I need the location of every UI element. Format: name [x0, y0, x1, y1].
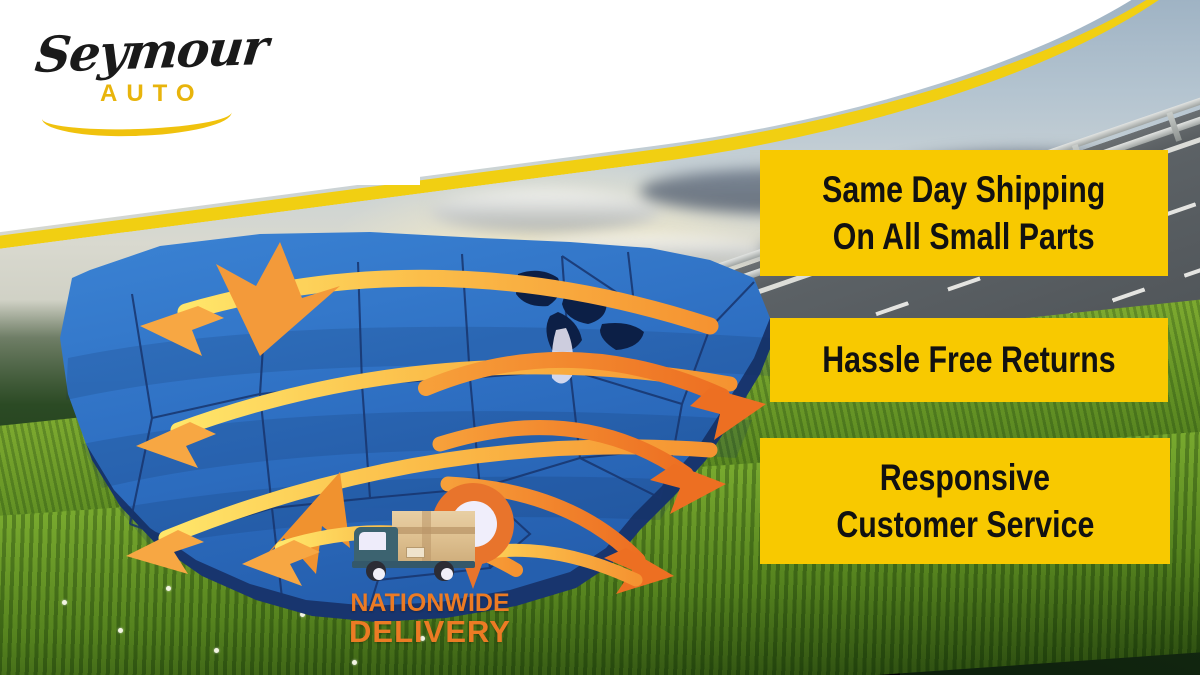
nationwide-delivery-graphic: NATIONWIDE DELIVERY	[340, 483, 520, 658]
responsive-customer-service-banner[interactable]: Responsive Customer Service	[760, 438, 1170, 564]
same-day-shipping-banner[interactable]: Same Day Shipping On All Small Parts	[760, 150, 1168, 276]
delivery-truck-icon	[350, 511, 475, 586]
logo-wordmark: Seymour	[32, 18, 270, 84]
banner-1-line-1: Same Day Shipping	[822, 166, 1105, 213]
nationwide-text: NATIONWIDE	[350, 589, 509, 617]
banner-3-line-1: Responsive	[880, 454, 1050, 501]
united-states-map: NATIONWIDE DELIVERY	[10, 208, 800, 638]
banner-1-line-2: On All Small Parts	[833, 213, 1095, 260]
seymour-auto-logo[interactable]: Seymour AUTO	[22, 18, 252, 128]
promo-banner-stage: Seymour AUTO	[0, 0, 1200, 675]
delivery-text: DELIVERY	[349, 614, 511, 649]
banner-3-line-2: Customer Service	[836, 501, 1094, 548]
logo-subtext: AUTO	[100, 80, 204, 108]
hassle-free-returns-banner[interactable]: Hassle Free Returns	[770, 318, 1168, 402]
banner-2-line-1: Hassle Free Returns	[822, 338, 1115, 382]
nationwide-delivery-label: NATIONWIDE DELIVERY	[340, 591, 520, 647]
